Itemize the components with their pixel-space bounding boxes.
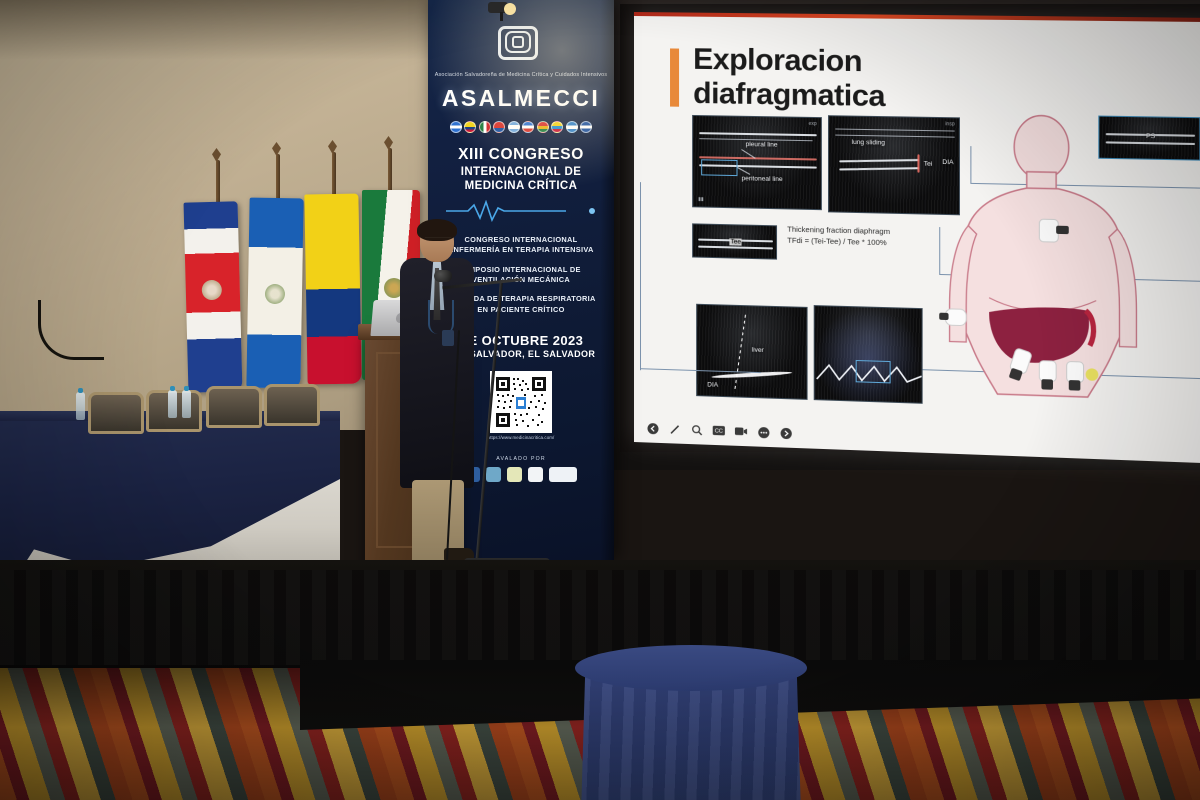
congress-line2: INTERNACIONAL DE [428, 165, 614, 179]
mic-pole [475, 280, 503, 565]
flag-costa-rica [184, 201, 243, 392]
banner-flag-4 [493, 121, 505, 133]
banner-flag-2 [464, 121, 476, 133]
slide-viewer-toolbar[interactable]: CC [646, 421, 792, 439]
ecg-waveform-graphic [446, 200, 596, 222]
water-bottle-3 [182, 390, 191, 418]
closed-captions-icon[interactable]: CC [712, 424, 725, 438]
conference-photo-scene: Exploracion diafragmatica pleural line p… [0, 0, 1200, 800]
presentation-slide: Exploracion diafragmatica pleural line p… [634, 12, 1200, 464]
banner-flag-7 [537, 121, 549, 133]
banner-flag-8 [551, 121, 563, 133]
thickening-fraction-formula: Thickening fraction diaphragm TFdi = (Te… [787, 224, 890, 249]
panel-corner-tag-exp: exp [809, 121, 817, 127]
waveform-roi-box [856, 360, 891, 383]
head-table [0, 415, 340, 575]
congress-line1: XIII CONGRESO [428, 146, 614, 165]
svg-text:CC: CC [715, 428, 723, 434]
flag-el-salvador [246, 198, 303, 389]
banner-flag-5 [508, 121, 520, 133]
congress-line3: MEDICINA CRÍTICA [428, 179, 614, 193]
label-peritoneal-line: peritoneal line [742, 175, 783, 183]
cocktail-table [575, 645, 807, 800]
panel-scale-marks: ▮▮ [698, 196, 704, 202]
label-lung-sliding: lung sliding [852, 139, 885, 147]
region-of-interest-box [701, 159, 737, 176]
banner-edge-shadow [600, 0, 614, 560]
slide-title-line2: diafragmatica [693, 76, 885, 113]
banner-flag-6 [522, 121, 534, 133]
chair-3 [206, 386, 262, 428]
pen-icon[interactable] [668, 422, 681, 436]
next-slide-icon[interactable] [779, 426, 792, 440]
slide-title-line1: Exploracion [693, 43, 885, 79]
banner-flag-3 [479, 121, 491, 133]
video-icon[interactable] [734, 425, 747, 439]
mic-boom-arm [442, 278, 522, 289]
congress-title: XIII CONGRESO INTERNACIONAL DE MEDICINA … [428, 146, 614, 193]
spotlight-fixture [486, 0, 522, 22]
ultrasound-panel-liver: liver DIA [696, 304, 807, 400]
chair-1 [88, 392, 144, 434]
banner-flag-10 [580, 121, 592, 133]
slide-content: pleural line peritoneal line exp ▮▮ lung… [634, 110, 1200, 431]
microphone-stand [440, 228, 570, 568]
flag-colombia [304, 194, 361, 385]
title-accent-bar [670, 48, 679, 106]
more-options-icon[interactable] [757, 425, 770, 439]
banner-brand: ASALMECCI [428, 85, 614, 112]
asalmecci-logo [498, 26, 544, 66]
torso-diagram [939, 111, 1160, 424]
microphone-icon [434, 270, 452, 282]
banner-flag-9 [566, 121, 578, 133]
banner-flag-row [428, 121, 614, 133]
water-bottle-1 [76, 392, 85, 420]
label-dia-liver: DIA [707, 381, 718, 388]
label-pleural-line: pleural line [746, 141, 778, 149]
banner-flag-1 [450, 121, 462, 133]
ultrasound-panel-pleura: pleural line peritoneal line exp ▮▮ [692, 115, 822, 210]
label-tee: Tee [729, 238, 742, 245]
label-tei: Tei [924, 161, 933, 168]
page-title: Exploracion diafragmatica [693, 43, 885, 114]
search-icon[interactable] [690, 423, 703, 437]
slide-title-block: Exploracion diafragmatica [670, 42, 1200, 118]
label-liver: liver [752, 347, 764, 354]
connector-left [640, 182, 641, 370]
formula-body: TFdi = (Tei-Tee) / Tee * 100% [787, 235, 890, 249]
cocktail-table-top [575, 645, 807, 691]
chair-4 [264, 384, 320, 426]
ultrasound-panel-tee: Tee [692, 223, 777, 259]
water-bottle-2 [168, 390, 177, 418]
ultrasound-panel-mmode-excursion [814, 305, 923, 404]
previous-slide-icon[interactable] [646, 421, 659, 434]
association-name: Asociación Salvadoreña de Medicina Críti… [428, 71, 614, 79]
